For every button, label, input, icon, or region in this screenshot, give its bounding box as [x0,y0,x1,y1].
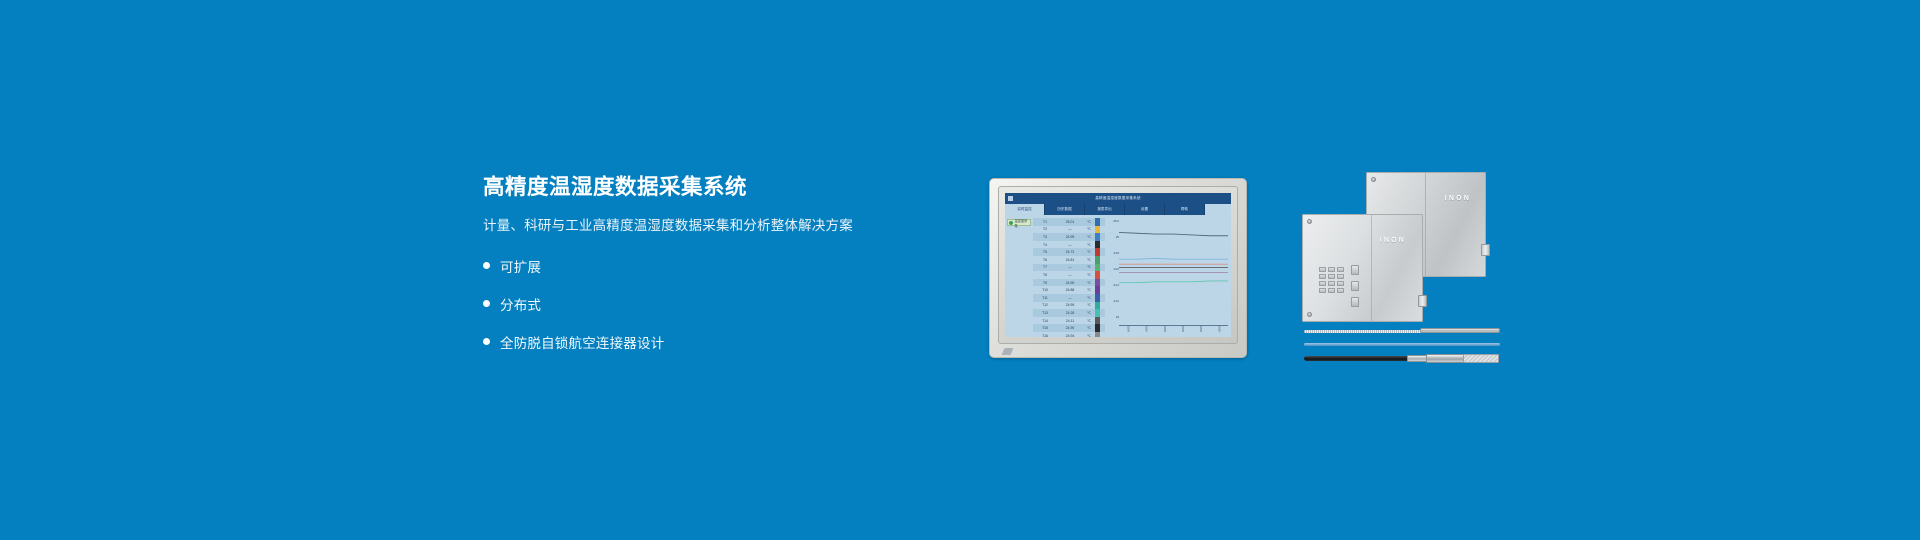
hardware-product-image: INON INON [1302,172,1502,362]
table-row[interactable]: T1624.94℃ [1033,332,1105,337]
cell-value: 24.99 [1057,235,1083,239]
connector-array [1319,267,1344,293]
bullet-dot-icon [483,338,490,345]
feature-list: 可扩展 分布式 全防脱自锁航空连接器设计 [483,253,953,354]
series-color-swatch [1095,332,1100,337]
brand-logo-front: INON [1380,237,1406,244]
list-item: 可扩展 [483,253,953,278]
cell-value: — [1057,273,1083,277]
cell-value: — [1057,265,1083,269]
cell-value: — [1057,296,1083,300]
cable-gland [1418,295,1427,307]
connector-port [1337,288,1344,293]
series-color-swatch [1095,317,1100,325]
cell-unit: ℃ [1083,243,1095,247]
table-row[interactable]: T11—℃ [1033,294,1105,302]
cell-unit: ℃ [1083,220,1095,224]
chart-x-tick: 10:00 [1127,326,1130,338]
table-row[interactable]: T8—℃ [1033,271,1105,279]
series-color-swatch [1095,241,1100,249]
monitor-bezel: 高精度温湿度数据采集系统 实时监控 历史数据 报表导出 设置 帮助 温湿度采集 … [998,186,1238,344]
chart-x-axis: 10:0010:1010:2010:3010:4010:50 [1119,326,1228,338]
probe-cable [1304,343,1500,346]
connector-port [1328,267,1335,272]
series-color-swatch [1095,218,1100,226]
cell-channel: T4 [1033,243,1057,247]
connector-port [1328,274,1335,279]
brand-logo-rear: INON [1445,195,1471,202]
page-title: 高精度温湿度数据采集系统 [483,176,953,200]
trend-chart: 25.22524.824.624.424.224 10:0010:1010:20… [1105,215,1231,337]
cell-channel: T15 [1033,326,1057,330]
series-color-swatch [1095,302,1100,310]
screw-icon [1307,219,1312,224]
tab-help[interactable]: 帮助 [1165,204,1205,215]
cell-value: 24.88 [1057,288,1083,292]
table-row[interactable]: T4—℃ [1033,241,1105,249]
series-color-swatch [1095,256,1100,264]
cell-value: 24.90 [1057,326,1083,330]
cell-unit: ℃ [1083,281,1095,285]
software-window-title: 高精度温湿度数据采集系统 [1005,196,1231,201]
cell-value: 24.28 [1057,311,1083,315]
enclosure-front-unit: INON [1302,214,1423,322]
cell-channel: T10 [1033,288,1057,292]
series-color-swatch [1095,324,1100,332]
aviation-connector [1351,281,1359,291]
series-color-swatch [1095,226,1100,234]
cell-channel: T5 [1033,250,1057,254]
series-color-swatch [1095,264,1100,272]
cell-unit: ℃ [1083,265,1095,269]
monitor-screen: 高精度温湿度数据采集系统 实时监控 历史数据 报表导出 设置 帮助 温湿度采集 … [1005,193,1231,337]
braided-steel-probe [1304,328,1500,334]
screw-icon [1371,177,1376,182]
connector-port [1319,267,1326,272]
aviation-connector [1351,265,1359,275]
cell-channel: T1 [1033,220,1057,224]
probe-ferrule [1407,355,1427,363]
cell-value: 24.81 [1057,258,1083,262]
connector-port [1337,274,1344,279]
tab-report[interactable]: 报表导出 [1085,204,1125,215]
cable-gland [1481,244,1490,256]
cell-unit: ℃ [1083,319,1095,323]
chart-x-tick: 10:20 [1163,326,1166,338]
cell-channel: T13 [1033,311,1057,315]
table-row[interactable]: T125.01℃ [1033,218,1105,226]
table-row[interactable]: T1024.88℃ [1033,286,1105,294]
chart-x-tick: 10:10 [1145,326,1148,338]
screw-icon [1307,312,1312,317]
cell-channel: T6 [1033,258,1057,262]
connector-port [1319,274,1326,279]
cell-unit: ℃ [1083,235,1095,239]
table-row[interactable]: T7—℃ [1033,264,1105,272]
bullet-dot-icon [483,262,490,269]
connector-port [1328,288,1335,293]
cell-unit: ℃ [1083,334,1095,337]
series-color-swatch [1095,279,1100,287]
device-tree-panel: 温湿度采集 [1005,215,1033,337]
enclosure-seam [1425,173,1426,276]
table-row[interactable]: T1324.28℃ [1033,309,1105,317]
list-item: 全防脱自锁航空连接器设计 [483,329,953,354]
tab-settings[interactable]: 设置 [1125,204,1165,215]
probe-sensor-head [1463,354,1499,363]
list-item: 分布式 [483,291,953,316]
cell-value: — [1057,227,1083,231]
probe-tip [1420,328,1500,333]
cell-channel: T16 [1033,334,1057,337]
cell-channel: T7 [1033,265,1057,269]
tab-history[interactable]: 历史数据 [1045,204,1085,215]
hero-text-block: 高精度温湿度数据采集系统 计量、科研与工业高精度温湿度数据采集和分析整体解决方案… [483,176,953,367]
cell-value: 25.01 [1057,220,1083,224]
probe-cable [1304,330,1424,333]
series-color-swatch [1095,271,1100,279]
connector-port [1328,281,1335,286]
cell-channel: T11 [1033,296,1057,300]
aviation-connector [1351,297,1359,307]
cell-value: — [1057,243,1083,247]
cell-channel: T3 [1033,235,1057,239]
table-row[interactable]: T2—℃ [1033,226,1105,234]
cell-value: 24.95 [1057,303,1083,307]
connector-port [1319,288,1326,293]
blue-cable-probe [1304,342,1500,346]
table-row[interactable]: T1424.11℃ [1033,317,1105,325]
feature-label: 全防脱自锁航空连接器设计 [500,332,664,352]
table-row[interactable]: T324.99℃ [1033,233,1105,241]
cell-value: 24.94 [1057,334,1083,337]
cell-unit: ℃ [1083,326,1095,330]
probe-cable [1304,356,1412,361]
connector-port [1319,281,1326,286]
connector-port [1337,281,1344,286]
feature-label: 可扩展 [500,256,541,276]
cell-value: 24.11 [1057,319,1083,323]
channel-table: T125.01℃T2—℃T324.99℃T4—℃T524.72℃T624.81℃… [1033,215,1105,337]
connector-port [1337,267,1344,272]
chart-x-tick: 10:50 [1217,326,1220,338]
chart-series-T13 [1119,219,1228,320]
cell-unit: ℃ [1083,303,1095,307]
series-color-swatch [1095,294,1100,302]
cell-unit: ℃ [1083,311,1095,315]
bullet-dot-icon [483,300,490,307]
software-titlebar: 高精度温湿度数据采集系统 [1005,193,1231,204]
probe-body [1426,354,1464,364]
black-cable-sensor-probe [1304,353,1500,363]
cell-value: 24.72 [1057,250,1083,254]
cell-channel: T8 [1033,273,1057,277]
software-tabbar: 实时监控 历史数据 报表导出 设置 帮助 [1005,204,1231,215]
enclosure-seam [1371,215,1372,321]
table-row[interactable]: T524.72℃ [1033,248,1105,256]
series-color-swatch [1095,233,1100,241]
cell-unit: ℃ [1083,273,1095,277]
software-body: 温湿度采集 T125.01℃T2—℃T324.99℃T4—℃T524.72℃T6… [1005,215,1231,337]
tree-item-device[interactable]: 温湿度采集 [1007,219,1031,226]
cell-channel: T12 [1033,303,1057,307]
table-row[interactable]: T624.81℃ [1033,256,1105,264]
cell-channel: T2 [1033,227,1057,231]
cell-channel: T14 [1033,319,1057,323]
cell-unit: ℃ [1083,227,1095,231]
cell-value: 24.90 [1057,281,1083,285]
cell-unit: ℃ [1083,296,1095,300]
tab-realtime[interactable]: 实时监控 [1005,204,1045,215]
aviation-connector-column [1351,265,1359,307]
monitor-product-image: 高精度温湿度数据采集系统 实时监控 历史数据 报表导出 设置 帮助 温湿度采集 … [989,178,1247,358]
table-row[interactable]: T1524.90℃ [1033,324,1105,332]
table-row[interactable]: T1224.95℃ [1033,302,1105,310]
cell-unit: ℃ [1083,250,1095,254]
feature-label: 分布式 [500,294,541,314]
tree-item-label: 温湿度采集 [1015,218,1030,228]
tabbar-filler [1205,204,1231,215]
series-color-swatch [1095,286,1100,294]
page-subtitle: 计量、科研与工业高精度温湿度数据采集和分析整体解决方案 [483,217,953,235]
status-online-icon [1009,221,1013,225]
series-color-swatch [1095,309,1100,317]
table-row[interactable]: T924.90℃ [1033,279,1105,287]
cell-unit: ℃ [1083,258,1095,262]
cell-channel: T9 [1033,281,1057,285]
chart-plot-area [1119,219,1228,320]
chart-x-tick: 10:30 [1181,326,1184,338]
cell-unit: ℃ [1083,288,1095,292]
series-color-swatch [1095,248,1100,256]
chart-x-tick: 10:40 [1199,326,1202,338]
